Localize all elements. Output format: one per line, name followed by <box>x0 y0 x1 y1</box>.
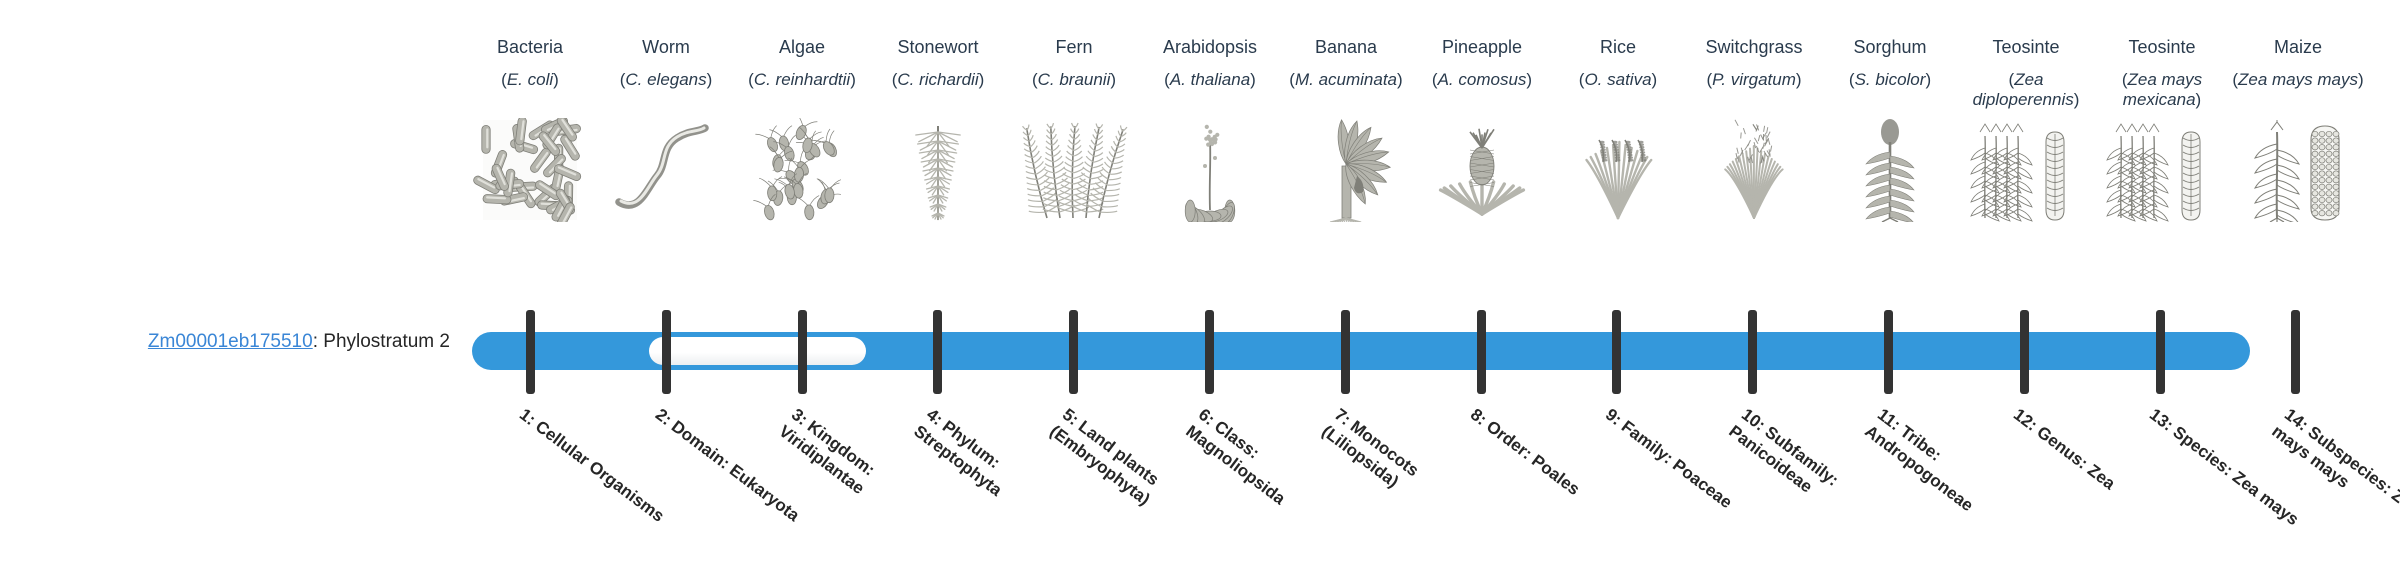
species-latin-name: (A. thaliana) <box>1144 70 1276 114</box>
species-latin-text: M. acuminata <box>1295 70 1397 89</box>
phylostratum-bar-fill <box>649 337 866 365</box>
maize-plant-and-cob-illustration <box>2231 118 2365 222</box>
phylostratum-tick-7[interactable] <box>1341 310 1350 394</box>
banana-plant-illustration <box>1279 118 1413 222</box>
species-latin-text: C. elegans <box>625 70 706 89</box>
species-common-name: Algae <box>779 36 825 60</box>
species-common-name: Fern <box>1055 36 1092 60</box>
phylostratum-tick-4[interactable] <box>933 310 942 394</box>
stratum-rank: Genus: <box>2033 422 2091 472</box>
stratum-taxon: Eukaryota <box>726 461 803 526</box>
species-latin-text: C. braunii <box>1038 70 1111 89</box>
species-column-teosinte-12: Teosinte(Zea mays mexicana) <box>2094 36 2230 222</box>
species-common-name: Rice <box>1600 36 1636 60</box>
phylostratum-tick-1[interactable] <box>526 310 535 394</box>
species-column-maize-13: Maize(Zea mays mays) <box>2230 36 2366 222</box>
species-common-name: Switchgrass <box>1705 36 1802 60</box>
teosinte-plant-and-ear-illustration <box>2095 118 2229 222</box>
stratum-rank: Species: <box>2169 422 2236 479</box>
phylostratum-tick-11[interactable] <box>1884 310 1893 394</box>
gene-id-link[interactable]: Zm00001eb175510 <box>148 331 313 352</box>
species-latin-text: C. reinhardtii <box>754 70 850 89</box>
species-latin-text: Zea mays mexicana <box>2123 70 2202 109</box>
phylostratum-label-14: 14: Subspecies: Zea mays mays <box>2268 404 2400 552</box>
pineapple-plant-illustration <box>1415 118 1549 222</box>
species-common-name: Bacteria <box>497 36 563 60</box>
species-common-name: Teosinte <box>1992 36 2059 60</box>
species-latin-name: (Zea diploperennis) <box>1960 70 2092 114</box>
species-latin-text: Zea mays mays <box>2238 70 2358 89</box>
species-column-fern-4: Fern(C. braunii) <box>1006 36 1142 222</box>
species-latin-name: (E. coli) <box>464 70 596 114</box>
stratum-taxon: Zea <box>2084 461 2119 494</box>
species-header-row: Bacteria(E. coli) <box>462 36 2364 306</box>
stratum-rank: Order: <box>1482 417 1535 463</box>
species-latin-text: O. sativa <box>1584 70 1651 89</box>
species-column-switchgrass-9: Switchgrass(P. virgatum) <box>1686 36 1822 222</box>
species-column-algae-2: Algae(C. reinhardtii) <box>734 36 870 222</box>
species-latin-name: (M. acuminata) <box>1280 70 1412 114</box>
species-common-name: Worm <box>642 36 690 60</box>
phylostratum-tick-12[interactable] <box>2020 310 2029 394</box>
species-latin-text: P. virgatum <box>1712 70 1796 89</box>
phylostratum-tick-13[interactable] <box>2156 310 2165 394</box>
fern-frond-illustration <box>1007 118 1141 222</box>
species-latin-name: (Zea mays mays) <box>2232 70 2364 114</box>
stratum-rank: Cellular <box>532 417 593 470</box>
stratum-rank: Family: <box>1618 417 1677 468</box>
phylostratum-tick-5[interactable] <box>1069 310 1078 394</box>
species-column-worm-1: Worm(C. elegans) <box>598 36 734 222</box>
species-latin-text: C. richardii <box>897 70 978 89</box>
species-common-name: Banana <box>1315 36 1377 60</box>
phylostratum-tick-2[interactable] <box>662 310 671 394</box>
phylostratum-bar-track[interactable] <box>472 332 2250 370</box>
teosinte-plant-and-ear-illustration <box>1959 118 2093 222</box>
phylostratum-tick-3[interactable] <box>798 310 807 394</box>
phylostratum-tick-9[interactable] <box>1612 310 1621 394</box>
stratum-taxon: Poaceae <box>1670 455 1737 512</box>
stratum-taxon: Organisms <box>585 457 667 526</box>
stratum-number: 12: <box>2010 405 2041 435</box>
nematode-worm-illustration <box>599 118 733 222</box>
species-latin-name: (S. bicolor) <box>1824 70 1956 114</box>
species-column-banana-6: Banana(M. acuminata) <box>1278 36 1414 222</box>
species-latin-text: E. coli <box>507 70 553 89</box>
species-latin-text: Zea diploperennis <box>1973 70 2074 109</box>
species-column-bacteria-0: Bacteria(E. coli) <box>462 36 598 222</box>
phylostratum-tick-8[interactable] <box>1477 310 1486 394</box>
stratum-taxon: Poales <box>1528 451 1583 499</box>
species-latin-name: (C. reinhardtii) <box>736 70 868 114</box>
stratum-number: 13: <box>2146 405 2177 435</box>
species-latin-name: (A. comosus) <box>1416 70 1548 114</box>
species-common-name: Sorghum <box>1853 36 1926 60</box>
species-latin-name: (C. braunii) <box>1008 70 1140 114</box>
species-latin-name: (C. elegans) <box>600 70 732 114</box>
species-latin-name: (O. sativa) <box>1552 70 1684 114</box>
species-latin-name: (Zea mays mexicana) <box>2096 70 2228 114</box>
phylostratum-tick-6[interactable] <box>1205 310 1214 394</box>
species-common-name: Pineapple <box>1442 36 1522 60</box>
sorghum-plant-illustration <box>1823 118 1957 222</box>
arabidopsis-rosette-illustration <box>1143 118 1277 222</box>
phylostratum-tick-14[interactable] <box>2291 310 2300 394</box>
rice-plant-illustration <box>1551 118 1685 222</box>
species-latin-text: A. thaliana <box>1170 70 1250 89</box>
phylostratum-axis-bar <box>300 332 2250 372</box>
species-column-rice-8: Rice(O. sativa) <box>1550 36 1686 222</box>
species-latin-name: (P. virgatum) <box>1688 70 1820 114</box>
species-common-name: Maize <box>2274 36 2322 60</box>
species-common-name: Teosinte <box>2128 36 2195 60</box>
switchgrass-plant-illustration <box>1687 118 1821 222</box>
phylostratum-tick-10[interactable] <box>1748 310 1757 394</box>
species-common-name: Stonewort <box>897 36 978 60</box>
stratum-taxon: Zea mays <box>2229 467 2302 529</box>
species-column-teosinte-11: Teosinte(Zea diploperennis) <box>1958 36 2094 222</box>
species-column-arabidopsis-5: Arabidopsis(A. thaliana) <box>1142 36 1278 222</box>
species-latin-text: S. bicolor <box>1855 70 1926 89</box>
stratum-rank: Domain: <box>668 417 734 473</box>
species-column-stonewort-3: Stonewort(C. richardii) <box>870 36 1006 222</box>
species-column-pineapple-7: Pineapple(A. comosus) <box>1414 36 1550 222</box>
species-latin-text: A. comosus <box>1438 70 1527 89</box>
species-column-sorghum-10: Sorghum(S. bicolor) <box>1822 36 1958 222</box>
species-latin-name: (C. richardii) <box>872 70 1004 114</box>
stonewort-alga-illustration <box>871 118 1005 222</box>
species-common-name: Arabidopsis <box>1163 36 1257 60</box>
bacteria-rods-illustration <box>463 118 597 222</box>
green-algae-cells-illustration <box>735 118 869 222</box>
